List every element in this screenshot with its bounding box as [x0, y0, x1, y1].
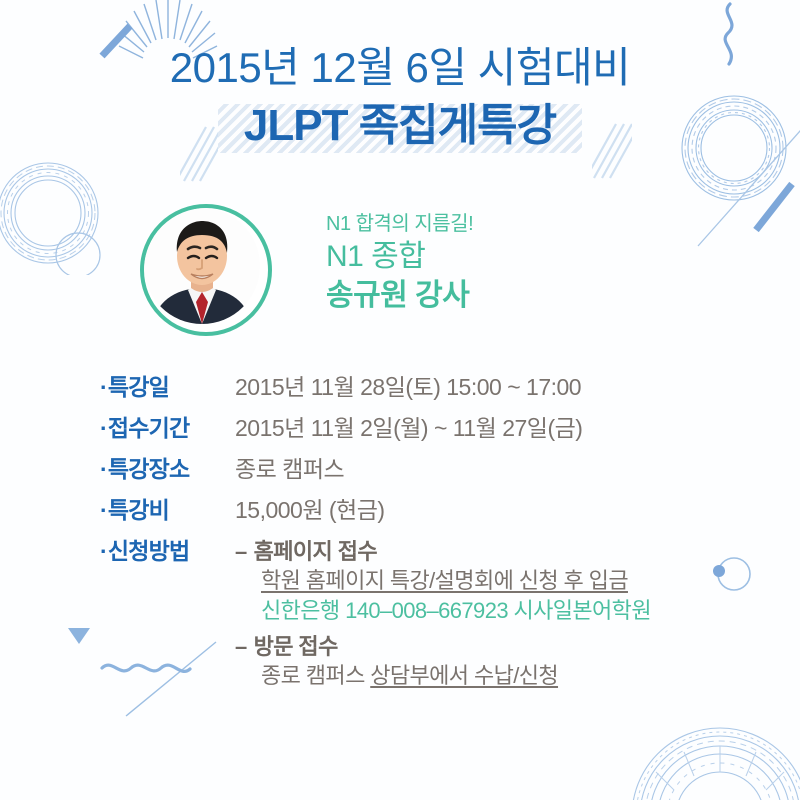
triangle-decoration	[66, 626, 92, 648]
info-label: ·특강장소	[100, 454, 235, 485]
info-row: ·특강장소 종로 캠퍼스	[100, 454, 760, 485]
instructor-avatar	[140, 204, 272, 336]
info-value: 15,000원 (현금)	[235, 495, 760, 526]
apply-method-1-bank: 신한은행 140–008–667923 시사일본어학원	[261, 596, 760, 625]
instructor-portrait-illustration	[144, 208, 260, 324]
instructor-tagline: N1 합격의 지름길!	[326, 212, 473, 236]
bullet-icon: ·	[100, 538, 107, 564]
info-row: ·특강일 2015년 11월 28일(토) 15:00 ~ 17:00	[100, 372, 760, 403]
apply-method-1-detail: 학원 홈페이지 특강/설명회에 신청 후 입금	[261, 566, 760, 595]
apply-method-row: ·신청방법 –홈페이지 접수 학원 홈페이지 특강/설명회에 신청 후 입금 신…	[100, 536, 760, 690]
apply-method-1-heading: –홈페이지 접수	[235, 537, 760, 566]
apply-method-1-heading-text: 홈페이지 접수	[254, 539, 377, 564]
info-label-text: 특강장소	[108, 456, 189, 482]
title-line-2: JLPT 족집게특강	[244, 101, 556, 150]
info-label-text: 특강비	[108, 497, 169, 523]
apply-method-body: –홈페이지 접수 학원 홈페이지 특강/설명회에 신청 후 입금 신한은행 14…	[235, 537, 760, 690]
instructor-section: N1 합격의 지름길! N1 종합 송규원 강사	[140, 204, 680, 344]
info-value: 2015년 11월 2일(월) ~ 11월 27일(금)	[235, 413, 760, 444]
diagonal-bar-decoration-right	[742, 180, 800, 238]
poster-header: 2015년 12월 6일 시험대비 JLPT 족집게특강	[0, 44, 800, 157]
info-value: 2015년 11월 28일(토) 15:00 ~ 17:00	[235, 372, 760, 403]
instructor-course: N1 종합	[326, 238, 473, 276]
apply-method-2-heading-text: 방문 접수	[254, 634, 338, 659]
apply-method-2-heading: –방문 접수	[235, 632, 760, 661]
bullet-icon: ·	[100, 374, 107, 400]
info-label-text: 신청방법	[108, 538, 189, 564]
info-value: 종로 캠퍼스	[235, 454, 760, 485]
info-label-text: 접수기간	[108, 415, 189, 441]
dash-icon: –	[235, 537, 247, 566]
title-line-1: 2015년 12월 6일 시험대비	[0, 44, 800, 92]
bullet-icon: ·	[100, 456, 107, 482]
instructor-name: 송규원 강사	[326, 277, 473, 315]
dash-icon: –	[235, 632, 247, 661]
instructor-text-block: N1 합격의 지름길! N1 종합 송규원 강사	[326, 212, 473, 314]
apply-method-2-detail-underlined: 상담부에서 수납/신청	[370, 663, 558, 688]
bullet-icon: ·	[100, 497, 107, 523]
info-label: ·접수기간	[100, 413, 235, 444]
info-label-text: 특강일	[108, 374, 169, 400]
instructor-photo	[144, 208, 268, 332]
mandala-decoration	[620, 716, 800, 800]
info-label: ·신청방법	[100, 536, 235, 567]
info-label: ·특강일	[100, 372, 235, 403]
poster-root: 2015년 12월 6일 시험대비 JLPT 족집게특강	[0, 0, 800, 800]
bullet-icon: ·	[100, 415, 107, 441]
info-label: ·특강비	[100, 495, 235, 526]
info-list: ·특강일 2015년 11월 28일(토) 15:00 ~ 17:00 ·접수기…	[100, 372, 760, 701]
apply-method-2-detail-plain: 종로 캠퍼스	[261, 663, 370, 688]
info-row: ·접수기간 2015년 11월 2일(월) ~ 11월 27일(금)	[100, 413, 760, 444]
ornate-ring-decoration-left	[0, 155, 112, 275]
title-line-2-wrapper: JLPT 족집게특강	[218, 98, 582, 157]
info-row: ·특강비 15,000원 (현금)	[100, 495, 760, 526]
apply-method-2-detail: 종로 캠퍼스 상담부에서 수납/신청	[261, 661, 760, 690]
